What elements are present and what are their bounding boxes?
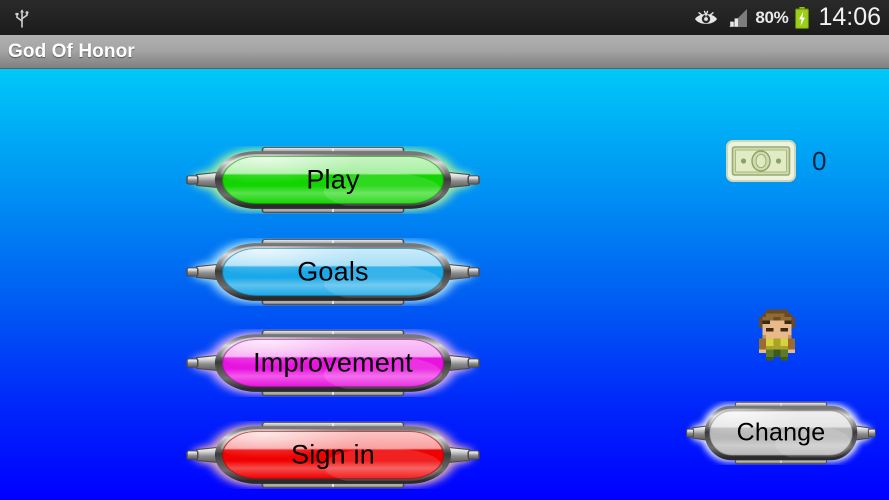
- battery-charging-icon: [795, 7, 809, 29]
- sign-in-button[interactable]: Sign in: [186, 421, 480, 489]
- change-button[interactable]: Change: [686, 401, 876, 465]
- improvement-button-graphic: [186, 329, 480, 397]
- cash-value: 0: [812, 148, 826, 174]
- status-bar: 80% 14:06: [0, 0, 889, 35]
- play-button[interactable]: Play: [186, 146, 480, 214]
- sign-in-button-graphic: [186, 421, 480, 489]
- improvement-button[interactable]: Improvement: [186, 329, 480, 397]
- battery-percent-label: 80%: [755, 9, 788, 26]
- app-screen: 80% 14:06 God Of Honor: [0, 0, 889, 500]
- goals-button-graphic: [186, 238, 480, 306]
- signal-bars-icon: [726, 8, 748, 28]
- status-bar-left: [0, 6, 693, 30]
- play-button-graphic: [186, 146, 480, 214]
- goals-button[interactable]: Goals: [186, 238, 480, 306]
- change-button-graphic: [686, 401, 876, 465]
- clock-label: 14:06: [818, 5, 881, 30]
- banknote-icon: [726, 140, 796, 182]
- status-bar-right: 80% 14:06: [693, 5, 889, 30]
- eye-icon: [693, 8, 719, 28]
- title-bar: God Of Honor: [0, 35, 889, 69]
- character-avatar[interactable]: [748, 306, 806, 364]
- cash-indicator: 0: [726, 140, 826, 182]
- usb-icon: [10, 6, 34, 30]
- app-title: God Of Honor: [0, 41, 135, 63]
